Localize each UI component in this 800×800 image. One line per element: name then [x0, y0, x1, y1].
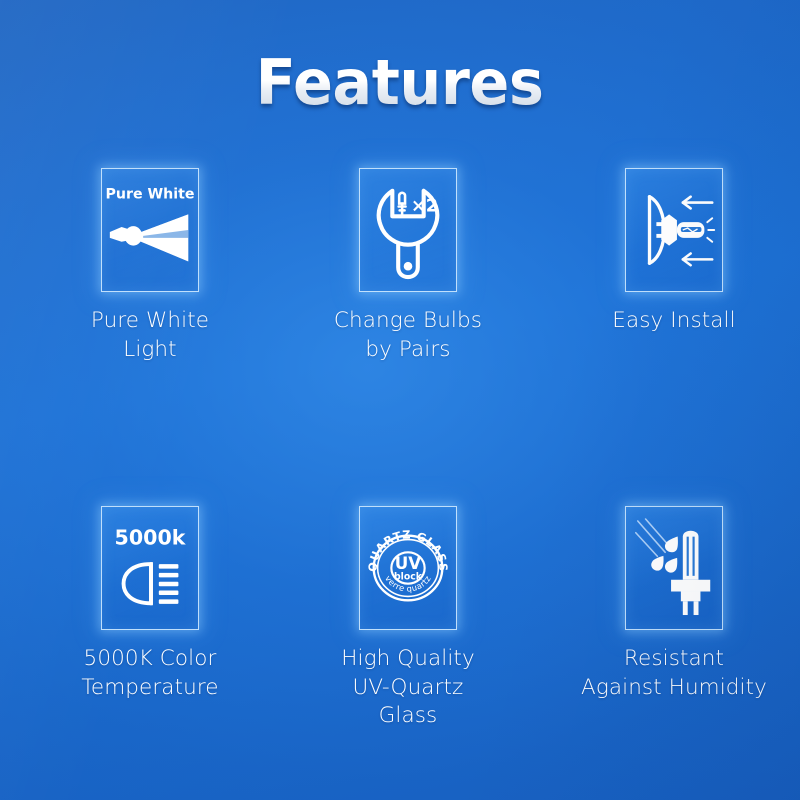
caption-easy-install: Easy Install: [612, 307, 735, 336]
icon-box-easy-install: [625, 168, 723, 292]
features-row-2: 5000k 5000K Color Temperature: [0, 506, 800, 731]
wrench-bulb-x2-icon: ×2: [360, 169, 456, 291]
caption-uv-quartz-glass: High Quality UV-Quartz Glass: [283, 645, 533, 731]
svg-text:×2: ×2: [411, 196, 438, 216]
caption-change-bulbs: Change Bulbs by Pairs: [334, 307, 482, 364]
features-row-1: Pure White Pure White Light: [0, 168, 800, 364]
page-title-wrap: Features: [0, 52, 800, 114]
water-drops-on-bulb-icon: [626, 507, 722, 629]
features-grid: Pure White Pure White Light: [0, 168, 800, 731]
feature-easy-install: Easy Install: [548, 168, 800, 364]
feature-humidity: Resistant Against Humidity: [548, 506, 800, 731]
svg-text:Pure White: Pure White: [105, 187, 194, 203]
feature-change-bulbs: ×2 Change Bulbs by Pairs: [282, 168, 534, 364]
icon-box-change-bulbs: ×2: [359, 168, 457, 292]
low-beam-5000k-icon: 5000k: [102, 507, 198, 629]
page-title: Features: [256, 52, 544, 114]
headlight-beam-icon: Pure White: [102, 169, 198, 291]
reflector-bulb-install-arrows-icon: [626, 169, 722, 291]
caption-humidity: Resistant Against Humidity: [549, 645, 799, 702]
feature-uv-quartz-glass: QUARTZ GLASS verre quartz UV block High …: [282, 506, 534, 731]
icon-box-pure-white-light: Pure White: [101, 168, 199, 292]
svg-text:UV: UV: [395, 554, 422, 573]
caption-color-temperature: 5000K Color Temperature: [81, 645, 218, 702]
features-page: Features Pure White Pure White Light: [0, 0, 800, 800]
svg-text:block: block: [394, 572, 423, 583]
uv-block-quartz-glass-seal-icon: QUARTZ GLASS verre quartz UV block: [360, 507, 456, 629]
caption-pure-white-light: Pure White Light: [91, 307, 209, 364]
svg-text:5000k: 5000k: [115, 526, 187, 550]
icon-box-humidity: [625, 506, 723, 630]
icon-box-color-temperature: 5000k: [101, 506, 199, 630]
icon-box-uv-quartz-glass: QUARTZ GLASS verre quartz UV block: [359, 506, 457, 630]
feature-pure-white-light: Pure White Pure White Light: [24, 168, 276, 364]
feature-color-temperature: 5000k 5000K Color Temperature: [24, 506, 276, 731]
